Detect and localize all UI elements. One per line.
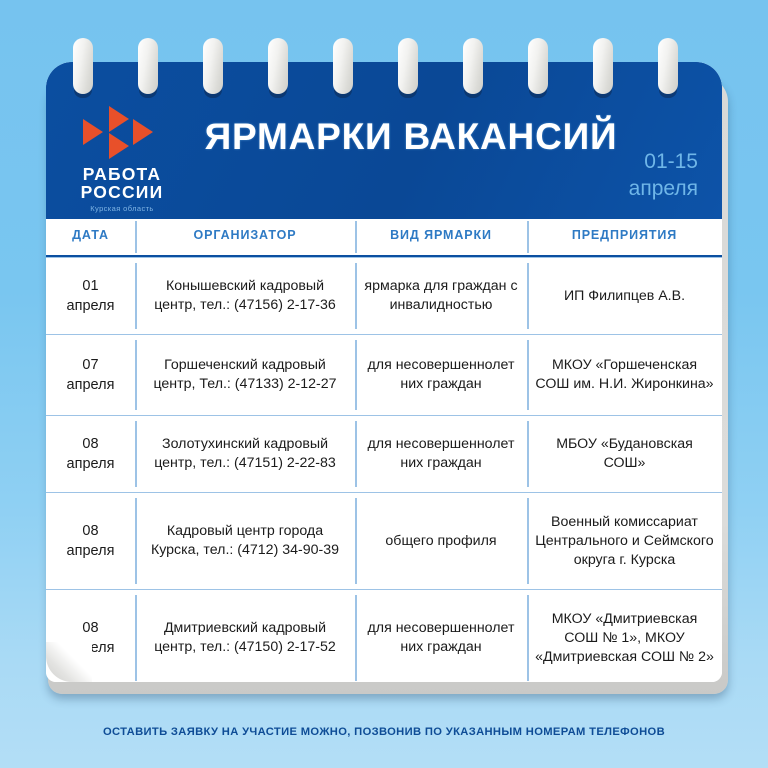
cell-date-day: 08 bbox=[67, 521, 115, 541]
cell-date-day: 07 bbox=[67, 355, 115, 375]
column-header-date: ДАТА bbox=[46, 219, 135, 255]
cell-enterprises: МКОУ «Горшеченская СОШ им. Н.И. Жиронкин… bbox=[527, 335, 722, 415]
cell-date-month: апреля bbox=[67, 454, 115, 474]
cell-fair-type: для несовершеннолет них граждан bbox=[355, 590, 527, 682]
cell-date: 07 апреля bbox=[46, 335, 135, 415]
table-row: 08 апреля Золотухинский кадровый центр, … bbox=[46, 415, 722, 492]
cell-fair-type: общего профиля bbox=[355, 493, 527, 589]
column-header-enterprises: ПРЕДПРИЯТИЯ bbox=[527, 219, 722, 255]
cell-organizer: Кадровый центр города Курска, тел.: (471… bbox=[135, 493, 355, 589]
brand-name-line1: РАБОТА bbox=[64, 166, 180, 184]
cell-date: 01 апреля bbox=[46, 258, 135, 334]
work-in-russia-logo-icon bbox=[83, 106, 161, 160]
fairs-table: ДАТА ОРГАНИЗАТОР ВИД ЯРМАРКИ ПРЕДПРИЯТИЯ… bbox=[46, 219, 722, 682]
footer-note: ОСТАВИТЬ ЗАЯВКУ НА УЧАСТИЕ МОЖНО, ПОЗВОН… bbox=[0, 726, 768, 738]
date-range-days: 01-15 bbox=[629, 148, 698, 175]
column-header-fair-type: ВИД ЯРМАРКИ bbox=[355, 219, 527, 255]
column-header-organizer: ОРГАНИЗАТОР bbox=[135, 219, 355, 255]
cell-organizer: Золотухинский кадровый центр, тел.: (471… bbox=[135, 416, 355, 492]
cell-enterprises: МКОУ «Дмитриевская СОШ № 1», МКОУ «Дмитр… bbox=[527, 590, 722, 682]
cell-fair-type: ярмарка для граждан с инвалидностью bbox=[355, 258, 527, 334]
cell-fair-type: для несовершеннолет них граждан bbox=[355, 335, 527, 415]
table-row: 08 апреля Дмитриевский кадровый центр, т… bbox=[46, 589, 722, 682]
cell-organizer: Конышевский кадровый центр, тел.: (47156… bbox=[135, 258, 355, 334]
table-header-row: ДАТА ОРГАНИЗАТОР ВИД ЯРМАРКИ ПРЕДПРИЯТИЯ bbox=[46, 219, 722, 257]
cell-date-month: апреля bbox=[67, 375, 115, 395]
cell-date-month: апреля bbox=[67, 541, 115, 561]
cell-enterprises: МБОУ «Будановская СОШ» bbox=[527, 416, 722, 492]
cell-enterprises: ИП Филипцев А.В. bbox=[527, 258, 722, 334]
cell-fair-type: для несовершеннолет них граждан bbox=[355, 416, 527, 492]
cell-date: 08 апреля bbox=[46, 416, 135, 492]
table-row: 01 апреля Конышевский кадровый центр, те… bbox=[46, 257, 722, 334]
brand-block: РАБОТА РОССИИ Курская область bbox=[64, 106, 180, 213]
table-row: 07 апреля Горшеченский кадровый центр, Т… bbox=[46, 334, 722, 415]
cell-date: 08 апреля bbox=[46, 493, 135, 589]
date-range-month: апреля bbox=[629, 175, 698, 202]
cell-date-day: 08 bbox=[67, 434, 115, 454]
cell-date-day: 01 bbox=[67, 276, 115, 296]
date-range: 01-15 апреля bbox=[629, 148, 698, 202]
brand-name: РАБОТА РОССИИ bbox=[64, 166, 180, 201]
cell-enterprises: Военный комиссариат Центрального и Сеймс… bbox=[527, 493, 722, 589]
page-title: ЯРМАРКИ ВАКАНСИЙ bbox=[196, 116, 626, 158]
calendar-card: РАБОТА РОССИИ Курская область ЯРМАРКИ ВА… bbox=[46, 62, 722, 682]
card-inner: РАБОТА РОССИИ Курская область ЯРМАРКИ ВА… bbox=[46, 62, 722, 682]
cell-date-day: 08 bbox=[67, 618, 115, 638]
cell-organizer: Горшеченский кадровый центр, Тел.: (4713… bbox=[135, 335, 355, 415]
brand-name-line2: РОССИИ bbox=[64, 184, 180, 202]
cell-organizer: Дмитриевский кадровый центр, тел.: (4715… bbox=[135, 590, 355, 682]
cell-date-month: апреля bbox=[67, 296, 115, 316]
brand-region: Курская область bbox=[64, 204, 180, 213]
table-row: 08 апреля Кадровый центр города Курска, … bbox=[46, 492, 722, 589]
card-header: РАБОТА РОССИИ Курская область ЯРМАРКИ ВА… bbox=[46, 62, 722, 219]
